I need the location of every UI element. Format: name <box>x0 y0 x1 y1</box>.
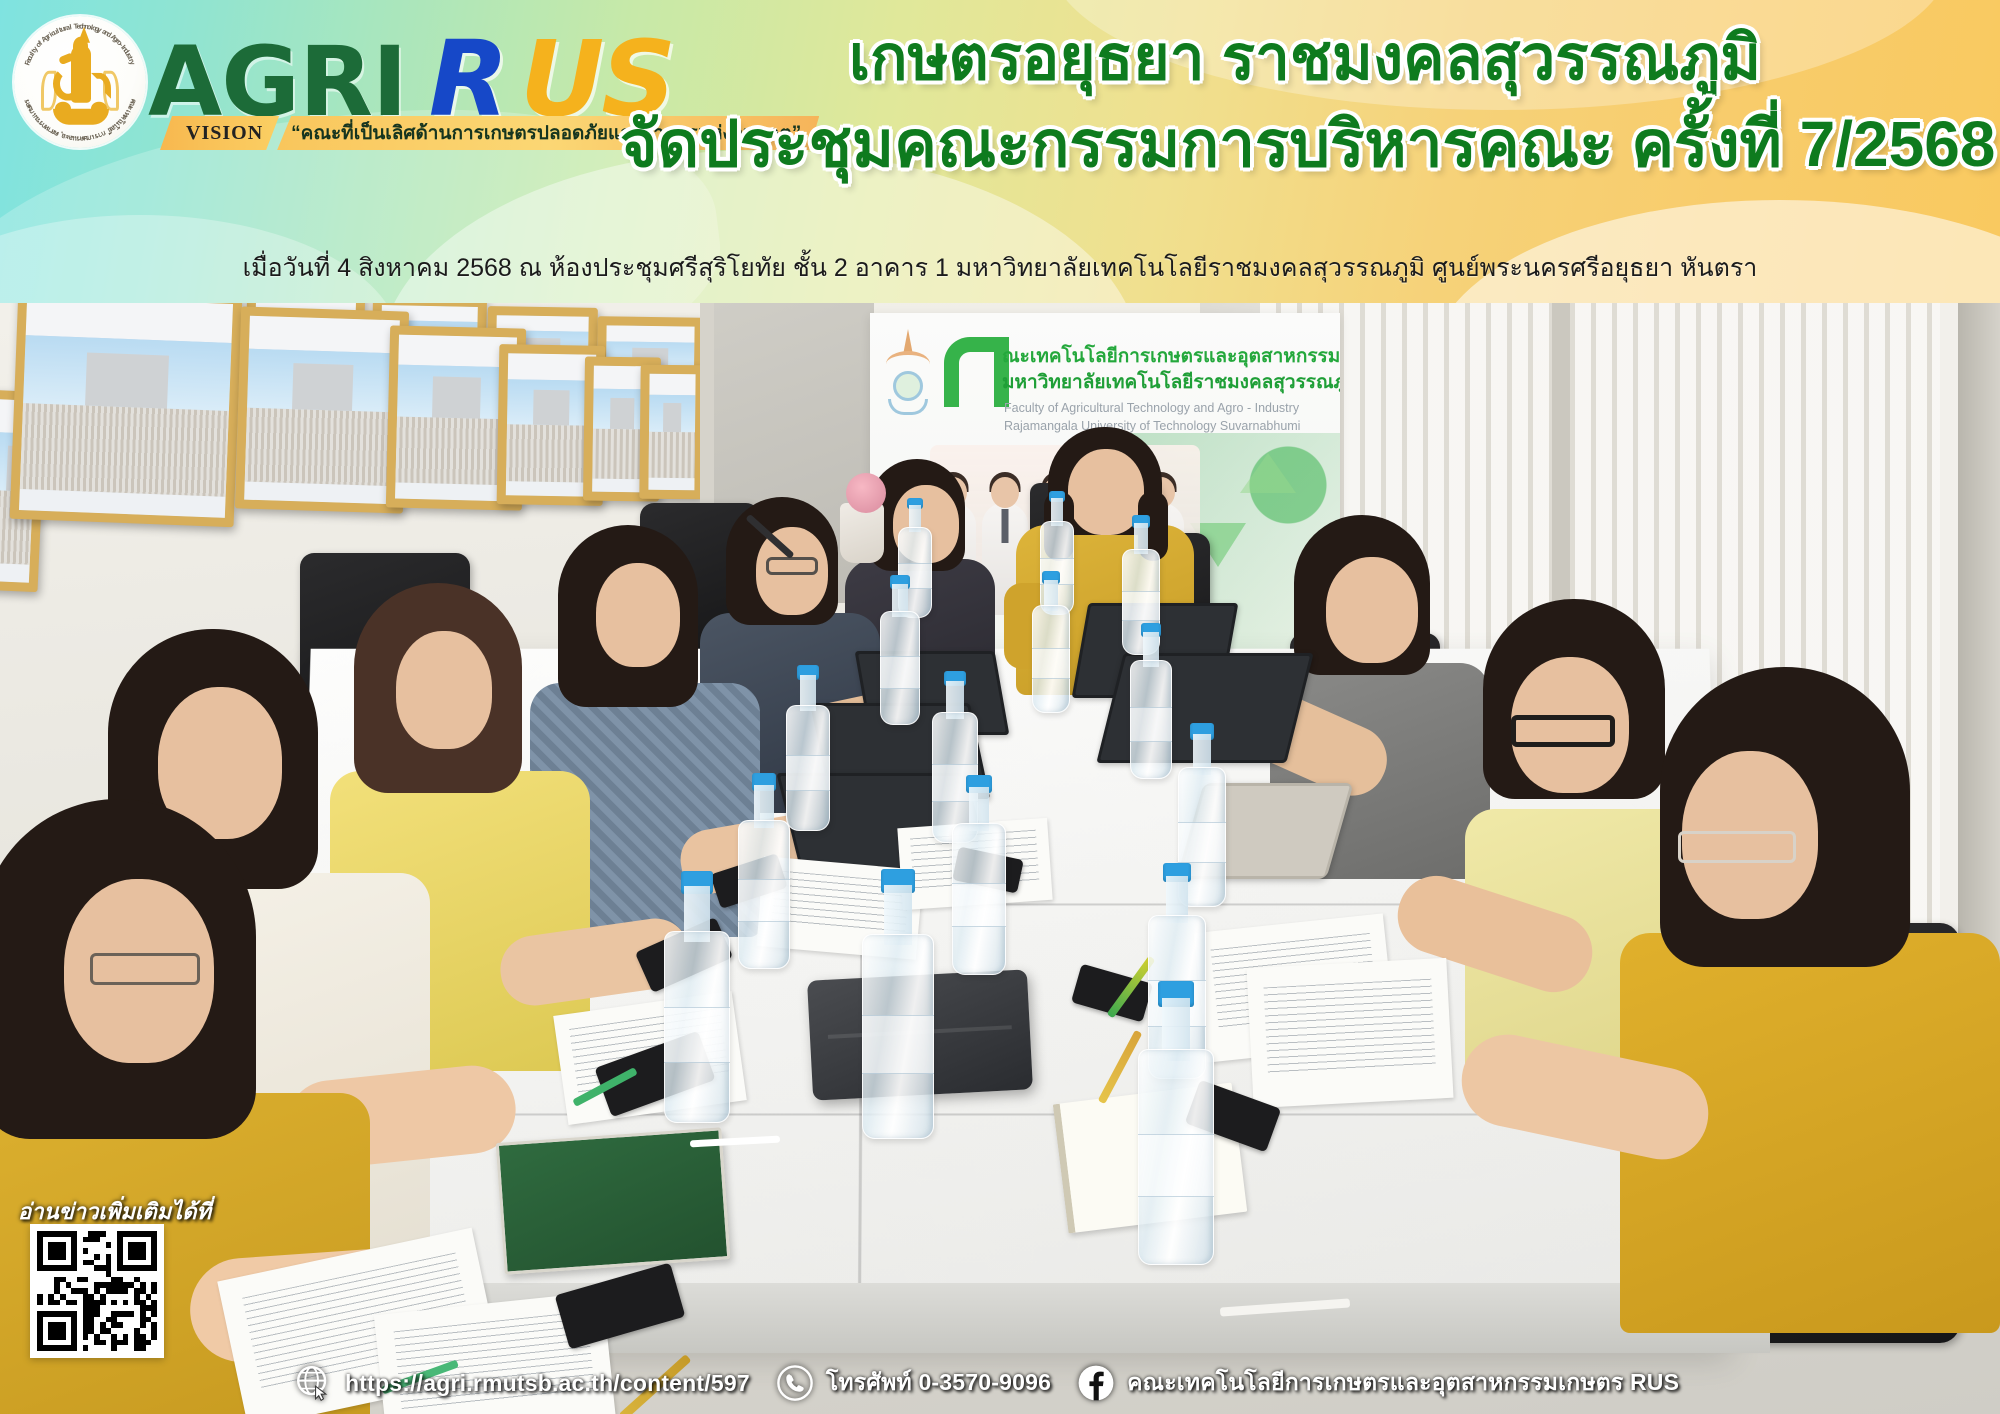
wall-frame-photo <box>235 306 409 513</box>
person-seated-foreground-right <box>1620 683 2000 1333</box>
backdrop-thai-line-2: มหาวิทยาลัยเทคโนโลยีราชมงคลสุวรรณภูมิ <box>1002 367 1340 397</box>
water-bottle <box>786 665 830 831</box>
facebook-contact-item[interactable]: คณะเทคโนโลยีการเกษตรและอุตสาหกรรมเกษตร R… <box>1077 1364 1679 1402</box>
vision-label-block: VISION <box>160 116 279 150</box>
headline-line-1: เกษตรอยุธยา ราชมงคลสุวรรณภูมิ <box>620 22 1990 95</box>
water-bottle <box>1032 571 1070 713</box>
qr-code-matrix <box>37 1231 157 1351</box>
website-url: https://agri.rmutsb.ac.th/content/597 <box>345 1370 750 1397</box>
headline-line-2: จัดประชุมคณะกรรมการบริหารคณะ ครั้งที่ 7/… <box>620 107 1990 183</box>
water-bottle <box>664 871 730 1123</box>
headline-subtitle: เมื่อวันที่ 4 สิงหาคม 2568 ณ ห้องประชุมศ… <box>0 248 2000 288</box>
water-bottle <box>880 575 920 725</box>
water-bottle <box>738 773 790 969</box>
water-bottle <box>952 775 1006 975</box>
backdrop-english-line-1: Faculty of Agricultural Technology and A… <box>1004 401 1299 415</box>
flower-decoration <box>846 473 886 513</box>
website-contact-item[interactable]: https://agri.rmutsb.ac.th/content/597 <box>295 1364 750 1402</box>
water-bottle <box>1130 623 1172 779</box>
backdrop-emblem-icon <box>884 329 932 421</box>
backdrop-english-line-2: Rajamangala University of Technology Suv… <box>1004 419 1300 433</box>
qr-code[interactable] <box>30 1224 164 1358</box>
water-bottle <box>862 869 934 1139</box>
contact-footer-bar: https://agri.rmutsb.ac.th/content/597 โท… <box>0 1352 2000 1414</box>
facebook-icon <box>1077 1364 1115 1402</box>
document-paper <box>1246 958 1453 1108</box>
news-poster: Faculty of Agricultural Technology and A… <box>0 0 2000 1414</box>
seal-emblem-icon <box>43 41 117 127</box>
globe-icon <box>295 1364 333 1402</box>
phone-number: โทรศัพท์ 0-3570-9096 <box>826 1365 1051 1401</box>
backdrop-initial-letter <box>944 337 994 407</box>
green-folder <box>496 1127 731 1274</box>
vision-label: VISION <box>186 122 263 145</box>
headline-block: เกษตรอยุธยา ราชมงคลสุวรรณภูมิ จัดประชุมค… <box>620 22 1990 183</box>
wall-frame-photo <box>639 365 704 500</box>
phone-icon <box>776 1364 814 1402</box>
wall-frame-photo <box>10 303 243 527</box>
poster-header: Faculty of Agricultural Technology and A… <box>0 0 2000 303</box>
faculty-seal-logo: Faculty of Agricultural Technology and A… <box>14 16 146 148</box>
water-bottle <box>1138 981 1214 1265</box>
facebook-page-name: คณะเทคโนโลยีการเกษตรและอุตสาหกรรมเกษตร R… <box>1127 1365 1679 1401</box>
meeting-photograph: ณะเทคโนโลยีการเกษตรและอุตสาหกรรมเกษตร มห… <box>0 303 2000 1414</box>
phone-contact-item[interactable]: โทรศัพท์ 0-3570-9096 <box>776 1364 1051 1402</box>
